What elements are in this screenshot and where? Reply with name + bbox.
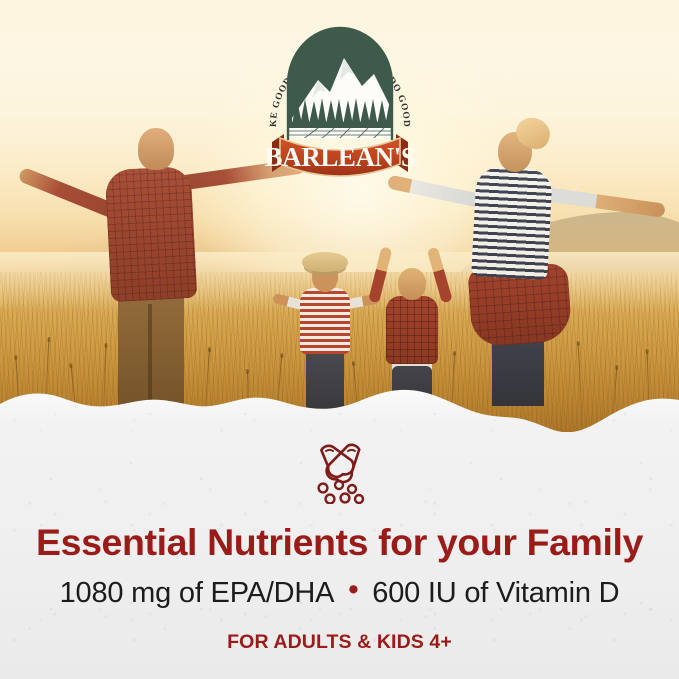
father-legs xyxy=(118,288,184,406)
promo-headline: Essential Nutrients for your Family xyxy=(0,523,679,562)
barleans-logo[interactable]: WE MAKE GOOD STUFF SO YOU CAN DO GOOD ST… xyxy=(262,14,418,180)
promo-subline: 1080 mg of EPA/DHA•600 IU of Vitamin D xyxy=(0,577,679,610)
capsule-left-notch xyxy=(326,450,333,451)
logo-wordmark: BARLEAN'S xyxy=(265,142,416,172)
father-plaid-shirt xyxy=(105,166,198,302)
bullet-separator: • xyxy=(334,574,372,606)
granule-dots xyxy=(318,481,362,503)
child-raised-head xyxy=(398,268,426,300)
epa-dha-value: 1080 mg of EPA/DHA xyxy=(60,577,335,609)
straw-hat xyxy=(302,252,348,272)
logo-banner-ribbon: BARLEAN'S xyxy=(265,134,416,176)
product-marketing-banner: WE MAKE GOOD STUFF SO YOU CAN DO GOOD ST… xyxy=(0,0,679,679)
promo-text-block: Essential Nutrients for your Family 1080… xyxy=(0,432,679,654)
capsules-and-granules-icon xyxy=(305,440,375,504)
audience-tagline: FOR ADULTS & KIDS 4+ xyxy=(0,631,679,654)
child-hat-striped-shirt xyxy=(300,288,350,354)
father-head xyxy=(138,128,174,170)
vitamin-d-value: 600 IU of Vitamin D xyxy=(372,577,619,609)
capsule-right-notch xyxy=(348,450,355,451)
mother-striped-top xyxy=(471,166,553,280)
child-raised-plaid-shirt xyxy=(386,296,438,364)
